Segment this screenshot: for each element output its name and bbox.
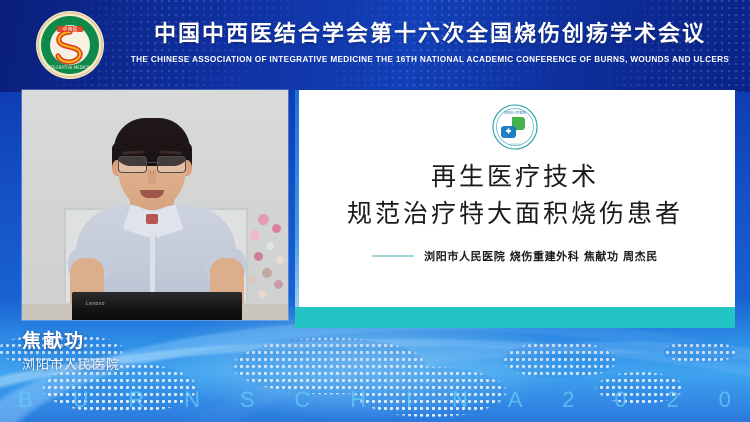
- slide-title-line-1: 再生医疗技术: [295, 157, 735, 193]
- laptop-device: Lenovo: [72, 292, 242, 320]
- conference-header-banner: 中西医 INTEGRATIVE MEDICINE 中国中西医结合学会第十六次全国…: [0, 0, 750, 90]
- svg-text:浏阳市人民医院: 浏阳市人民医院: [504, 109, 526, 114]
- slide-byline: 浏阳市人民医院 烧伤重建外科 焦献功 周杰民: [295, 248, 735, 264]
- hospital-emblem-logo-icon: 浏阳市人民医院 HOSPITAL: [492, 104, 538, 150]
- slide-byline-text: 浏阳市人民医院 烧伤重建外科 焦献功 周杰民: [424, 248, 658, 264]
- slide-bottom-accent-bar: [295, 307, 735, 328]
- lower-third-name-plate: 焦献功 浏阳市人民医院: [0, 326, 300, 378]
- slide-title-line-2: 规范治疗特大面积烧伤患者: [295, 194, 735, 230]
- conference-title-en: THE CHINESE ASSOCIATION OF INTEGRATIVE M…: [130, 55, 730, 64]
- svg-text:中西医: 中西医: [62, 26, 77, 33]
- speaker-name: 焦献功: [22, 326, 85, 353]
- eyeglasses-icon: [118, 156, 186, 171]
- byline-rule-divider: [372, 255, 414, 257]
- speaker-organization: 浏阳市人民医院: [22, 354, 120, 373]
- presentation-slide-panel[interactable]: 浏阳市人民医院 HOSPITAL 再生医疗技术 规范治疗特大面积烧伤患者 浏阳市…: [295, 90, 735, 328]
- svg-text:INTEGRATIVE MEDICINE: INTEGRATIVE MEDICINE: [46, 65, 94, 70]
- conference-emblem-logo-icon: 中西医 INTEGRATIVE MEDICINE: [35, 10, 105, 80]
- conference-broadcast-screen: 中西医 INTEGRATIVE MEDICINE 中国中西医结合学会第十六次全国…: [0, 0, 750, 422]
- speaker-video-panel[interactable]: Lenovo: [22, 90, 288, 320]
- laptop-brand-label: Lenovo: [86, 301, 105, 307]
- svg-text:HOSPITAL: HOSPITAL: [509, 144, 521, 147]
- speaker-figure: [70, 108, 242, 308]
- conference-title-cn: 中国中西医结合学会第十六次全国烧伤创疡学术会议: [130, 22, 730, 48]
